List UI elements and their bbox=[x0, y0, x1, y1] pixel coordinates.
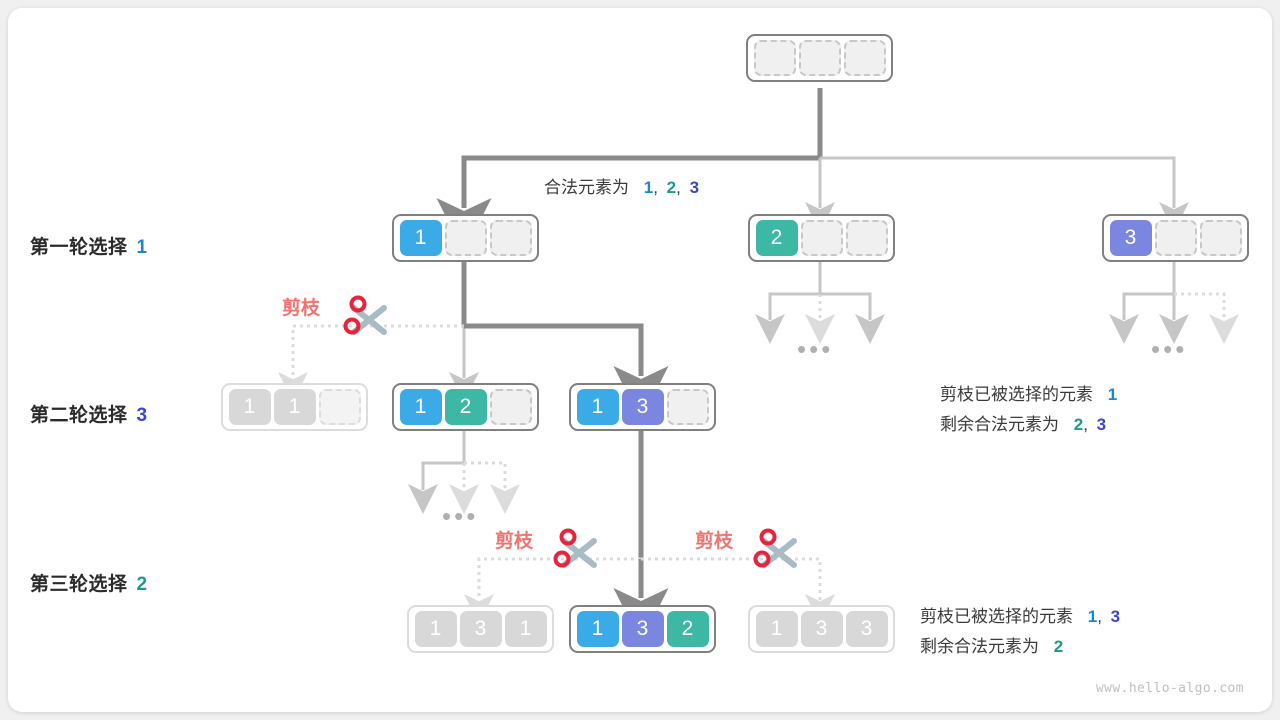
cell-empty bbox=[846, 220, 888, 256]
state-1-3-3: 1 3 3 bbox=[748, 605, 895, 653]
prune-label-3: 剪枝 bbox=[695, 526, 733, 553]
state-1-3: 1 3 bbox=[569, 383, 716, 431]
cell-empty bbox=[754, 40, 796, 76]
note-value: 1 bbox=[1108, 385, 1117, 404]
cell-empty bbox=[801, 220, 843, 256]
cell-value: 1 bbox=[400, 389, 442, 425]
cell-value: 2 bbox=[756, 220, 798, 256]
legal-element-value: 2 bbox=[667, 178, 676, 197]
cell-value: 2 bbox=[445, 389, 487, 425]
cell-value: 1 bbox=[577, 389, 619, 425]
cell-empty bbox=[490, 389, 532, 425]
cell-value: 1 bbox=[505, 611, 547, 647]
cell-empty bbox=[844, 40, 886, 76]
note-value: 3 bbox=[1111, 607, 1120, 626]
cell-empty bbox=[1200, 220, 1242, 256]
prune-label-1: 剪枝 bbox=[282, 293, 320, 320]
level3-note-line2: 剩余合法元素为 2 bbox=[920, 632, 1063, 657]
cell-value: 3 bbox=[622, 389, 664, 425]
cell-empty bbox=[445, 220, 487, 256]
cell-value: 3 bbox=[801, 611, 843, 647]
cell-value: 1 bbox=[577, 611, 619, 647]
level2-note-line2: 剩余合法元素为 2, 3 bbox=[940, 410, 1106, 435]
cell-value: 1 bbox=[274, 389, 316, 425]
row-label-value: 3 bbox=[137, 405, 148, 426]
level3-note-line1: 剪枝已被选择的元素 1, 3 bbox=[920, 602, 1120, 627]
note-value: 1 bbox=[1088, 607, 1097, 626]
legal-element-value: 3 bbox=[690, 178, 699, 197]
note-prefix: 剩余合法元素为 bbox=[920, 637, 1039, 656]
root-state bbox=[746, 34, 893, 82]
note-value: 3 bbox=[1097, 415, 1106, 434]
row-label-value: 1 bbox=[137, 237, 148, 258]
cell-value: 3 bbox=[460, 611, 502, 647]
state-1-3-2: 1 3 2 bbox=[569, 605, 716, 653]
level2-note-line1: 剪枝已被选择的元素 1 bbox=[940, 380, 1117, 405]
row-label-round-1: 第一轮选择1 bbox=[30, 232, 148, 259]
cell-empty bbox=[319, 389, 361, 425]
note-value: 2 bbox=[1074, 415, 1083, 434]
legal-elements-note: 合法元素为 1, 2, 3 bbox=[544, 173, 699, 198]
note-value: 2 bbox=[1054, 637, 1063, 656]
ellipsis-under-state-3: ••• bbox=[1151, 344, 1187, 354]
prune-label-2: 剪枝 bbox=[495, 526, 533, 553]
state-3: 3 bbox=[1102, 214, 1249, 262]
cell-value: 1 bbox=[229, 389, 271, 425]
row-label-value: 2 bbox=[137, 574, 148, 595]
cell-value: 1 bbox=[415, 611, 457, 647]
cell-empty bbox=[667, 389, 709, 425]
row-label-text: 第一轮选择 bbox=[30, 237, 128, 258]
cell-empty bbox=[1155, 220, 1197, 256]
state-1-1: 1 1 bbox=[221, 383, 368, 431]
state-1-2: 1 2 bbox=[392, 383, 539, 431]
legal-element-value: 1 bbox=[644, 178, 653, 197]
note-prefix: 剪枝已被选择的元素 bbox=[920, 607, 1073, 626]
note-prefix: 剩余合法元素为 bbox=[940, 415, 1059, 434]
legal-elements-prefix: 合法元素为 bbox=[544, 178, 629, 197]
cell-value: 3 bbox=[846, 611, 888, 647]
cell-value: 3 bbox=[622, 611, 664, 647]
ellipsis-under-state-1-2: ••• bbox=[442, 511, 478, 521]
row-label-text: 第三轮选择 bbox=[30, 574, 128, 595]
cell-empty bbox=[490, 220, 532, 256]
row-label-round-3: 第三轮选择2 bbox=[30, 569, 148, 596]
watermark: www.hello-algo.com bbox=[1096, 681, 1244, 696]
cell-value: 3 bbox=[1110, 220, 1152, 256]
row-label-text: 第二轮选择 bbox=[30, 405, 128, 426]
ellipsis-under-state-2: ••• bbox=[797, 344, 833, 354]
cell-empty bbox=[799, 40, 841, 76]
state-1-3-1: 1 3 1 bbox=[407, 605, 554, 653]
state-1: 1 bbox=[392, 214, 539, 262]
diagram-card: 第一轮选择1 第二轮选择3 第三轮选择2 1 2 3 1 1 1 2 1 bbox=[8, 8, 1272, 712]
cell-value: 2 bbox=[667, 611, 709, 647]
cell-value: 1 bbox=[400, 220, 442, 256]
row-label-round-2: 第二轮选择3 bbox=[30, 400, 148, 427]
state-2: 2 bbox=[748, 214, 895, 262]
note-prefix: 剪枝已被选择的元素 bbox=[940, 385, 1093, 404]
cell-value: 1 bbox=[756, 611, 798, 647]
